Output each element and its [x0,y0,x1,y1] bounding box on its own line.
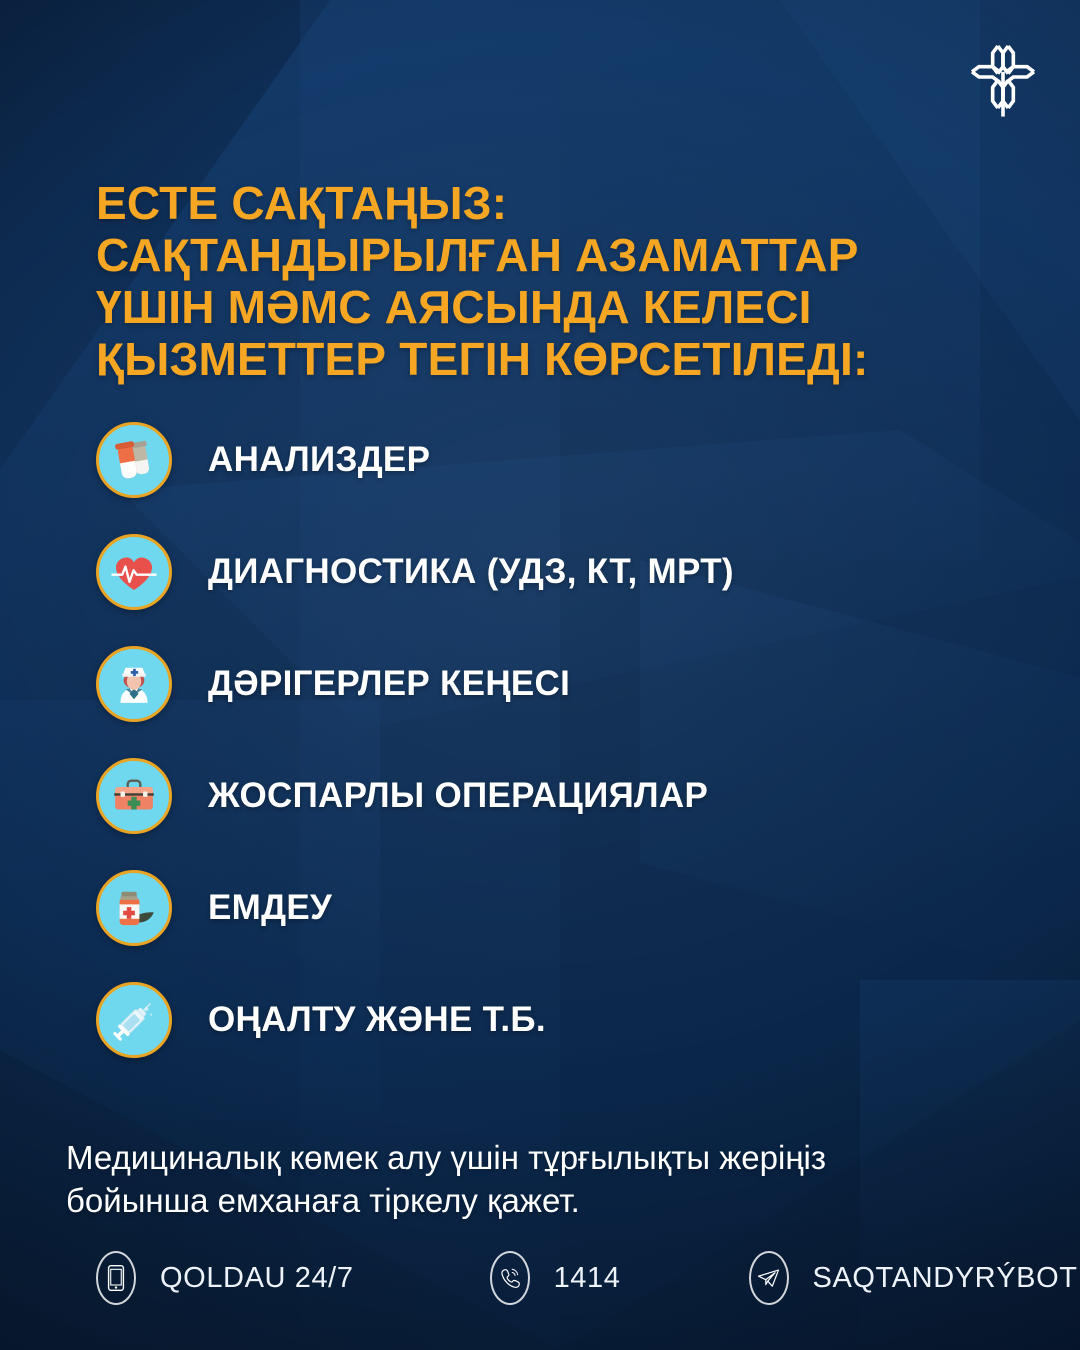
list-item: ДӘРІГЕРЛЕР КЕҢЕСІ [96,628,996,740]
phone-call-icon [490,1251,530,1305]
list-item: ЕМДЕУ [96,852,996,964]
test-tubes-icon [96,422,172,498]
list-item: ЖОСПАРЛЫ ОПЕРАЦИЯЛАР [96,740,996,852]
poster: ЕСТЕ САҚТАҢЫЗ: САҚТАНДЫРЫЛҒАН АЗАМАТТАР … [0,0,1080,1350]
contact-label: SAQTANDYRÝBOT [813,1262,1078,1295]
list-item-label: ДИАГНОСТИКА (УДЗ, КТ, МРТ) [208,552,734,592]
contact-footer: QOLDAU 24/7 1414 SAQTANDYRÝBOT [80,1243,1040,1313]
list-item: АНАЛИЗДЕР [96,404,996,516]
list-item-label: АНАЛИЗДЕР [208,440,430,480]
list-item: ДИАГНОСТИКА (УДЗ, КТ, МРТ) [96,516,996,628]
list-item-label: ДӘРІГЕРЛЕР КЕҢЕСІ [208,664,570,704]
list-item-label: ОҢАЛТУ ЖӘНЕ Т.Б. [208,1000,546,1040]
smartphone-icon [96,1251,136,1305]
syringe-icon [96,982,172,1058]
contact-label: 1414 [554,1262,621,1295]
medical-bag-icon [96,758,172,834]
page-title: ЕСТЕ САҚТАҢЫЗ: САҚТАНДЫРЫЛҒАН АЗАМАТТАР … [96,177,996,386]
contact-item-hotline[interactable]: 1414 [490,1251,621,1305]
nurse-icon [96,646,172,722]
registration-note: Медициналық көмек алу үшін тұрғылықты же… [66,1137,1026,1223]
list-item-label: ЕМДЕУ [208,888,332,928]
service-list: АНАЛИЗДЕР ДИАГНОСТИКА (УДЗ, КТ, МРТ) [96,404,996,1076]
telegram-plane-icon [749,1251,789,1305]
contact-item-telegram-bot[interactable]: SAQTANDYRÝBOT [749,1251,1078,1305]
list-item-label: ЖОСПАРЛЫ ОПЕРАЦИЯЛАР [208,776,708,816]
fund-ornament-logo-icon [960,34,1046,120]
heart-pulse-icon [96,534,172,610]
medicine-bottle-icon [96,870,172,946]
contact-item-qoldau[interactable]: QOLDAU 24/7 [96,1251,354,1305]
contact-label: QOLDAU 24/7 [160,1262,354,1295]
list-item: ОҢАЛТУ ЖӘНЕ Т.Б. [96,964,996,1076]
